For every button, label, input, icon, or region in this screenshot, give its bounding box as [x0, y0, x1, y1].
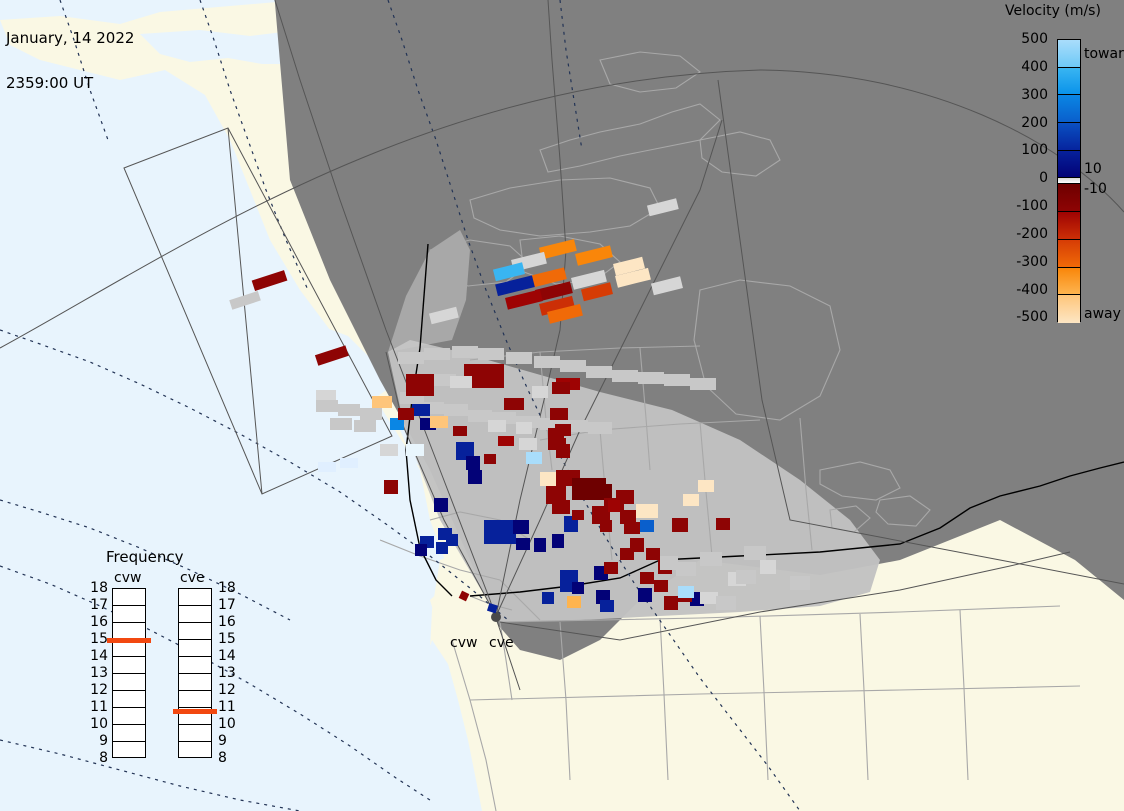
- frequency-scale-tick: [179, 707, 211, 708]
- colorbar-away-label: away: [1084, 307, 1121, 321]
- frequency-scale-cvw: [112, 588, 146, 758]
- frequency-scale-tick: [113, 741, 145, 742]
- colorbar-tick-label: 200: [1021, 116, 1048, 130]
- frequency-axis-label: 11: [218, 700, 238, 714]
- frequency-axis-label: 8: [88, 751, 108, 765]
- velocity-colorbar: Velocity (m/s) 5004003002001000-100-200-…: [1000, 0, 1124, 340]
- frequency-scale-tick: [113, 622, 145, 623]
- frequency-column-header-cvw: cvw: [114, 570, 141, 586]
- frequency-axis-label: 10: [88, 717, 108, 731]
- colorbar-gradient: [1057, 39, 1081, 322]
- frequency-axis-label: 16: [88, 615, 108, 629]
- colorbar-tick-label: 400: [1021, 60, 1048, 74]
- frequency-scale-tick: [113, 656, 145, 657]
- frequency-marker-cvw: [107, 638, 151, 643]
- site-label-cvw: cvw: [450, 635, 477, 651]
- frequency-scale-tick: [179, 622, 211, 623]
- colorbar-tick-label: -200: [1016, 227, 1048, 241]
- frequency-axis-label: 14: [88, 649, 108, 663]
- frequency-axis-label: 10: [218, 717, 238, 731]
- frequency-axis-label: 14: [218, 649, 238, 663]
- timestamp-time: 2359:00 UT: [6, 76, 134, 91]
- frequency-axis-label: 12: [88, 683, 108, 697]
- frequency-scale-tick: [113, 707, 145, 708]
- colorbar-segment: [1058, 95, 1080, 123]
- frequency-scale-tick: [179, 639, 211, 640]
- frequency-axis-label: 13: [218, 666, 238, 680]
- colorbar-segment: [1058, 68, 1080, 96]
- colorbar-negative-threshold-label: -10: [1084, 182, 1107, 196]
- frequency-scale-tick: [113, 690, 145, 691]
- frequency-axis-label: 17: [88, 598, 108, 612]
- colorbar-tick-label: 300: [1021, 88, 1048, 102]
- frequency-axis-label: 12: [218, 683, 238, 697]
- frequency-axis-label: 15: [218, 632, 238, 646]
- frequency-scale-tick: [113, 605, 145, 606]
- colorbar-positive-threshold-label: 10: [1084, 162, 1102, 176]
- frequency-scale-tick: [179, 673, 211, 674]
- colorbar-toward-label: toward: [1084, 47, 1124, 61]
- frequency-scale-tick: [113, 724, 145, 725]
- colorbar-segment: [1058, 184, 1080, 212]
- colorbar-title: Velocity (m/s): [1005, 3, 1124, 19]
- colorbar-tick-label: -300: [1016, 255, 1048, 269]
- frequency-scale-tick: [179, 741, 211, 742]
- frequency-axis-label: 13: [88, 666, 108, 680]
- frequency-scale-cve: [178, 588, 212, 758]
- frequency-marker-cve: [173, 709, 217, 714]
- frequency-axis-label: 18: [218, 581, 238, 595]
- colorbar-tick-label: -100: [1016, 199, 1048, 213]
- frequency-axis-label: 16: [218, 615, 238, 629]
- frequency-legend: Frequency cvw cve 18171615141312111098 1…: [88, 548, 238, 778]
- colorbar-tick-label: 500: [1021, 32, 1048, 46]
- colorbar-tick-label: -400: [1016, 283, 1048, 297]
- frequency-axis-label: 8: [218, 751, 238, 765]
- frequency-axis-label: 18: [88, 581, 108, 595]
- colorbar-segment: [1058, 295, 1080, 323]
- frequency-scale-tick: [179, 656, 211, 657]
- site-label-cve: cve: [489, 635, 514, 651]
- frequency-scale-tick: [113, 673, 145, 674]
- colorbar-segment: [1058, 240, 1080, 268]
- colorbar-segment: [1058, 268, 1080, 296]
- frequency-axis-label: 9: [218, 734, 238, 748]
- frequency-axis-label: 17: [218, 598, 238, 612]
- frequency-scale-tick: [179, 724, 211, 725]
- timestamp: January, 14 2022 2359:00 UT: [6, 1, 134, 121]
- colorbar-segment: [1058, 212, 1080, 240]
- radar-velocity-map: January, 14 2022 2359:00 UT Velocity (m/…: [0, 0, 1124, 811]
- frequency-legend-title: Frequency: [106, 548, 184, 566]
- frequency-axis-label: 9: [88, 734, 108, 748]
- colorbar-segment: [1058, 151, 1080, 179]
- colorbar-tick-label: 0: [1039, 171, 1048, 185]
- frequency-column-header-cve: cve: [180, 570, 205, 586]
- frequency-scale-tick: [179, 605, 211, 606]
- frequency-axis-label: 11: [88, 700, 108, 714]
- frequency-axis-label: 15: [88, 632, 108, 646]
- colorbar-segment: [1058, 40, 1080, 68]
- colorbar-segment: [1058, 123, 1080, 151]
- colorbar-tick-label: -500: [1016, 310, 1048, 324]
- colorbar-tick-label: 100: [1021, 143, 1048, 157]
- frequency-scale-tick: [179, 690, 211, 691]
- timestamp-date: January, 14 2022: [6, 31, 134, 46]
